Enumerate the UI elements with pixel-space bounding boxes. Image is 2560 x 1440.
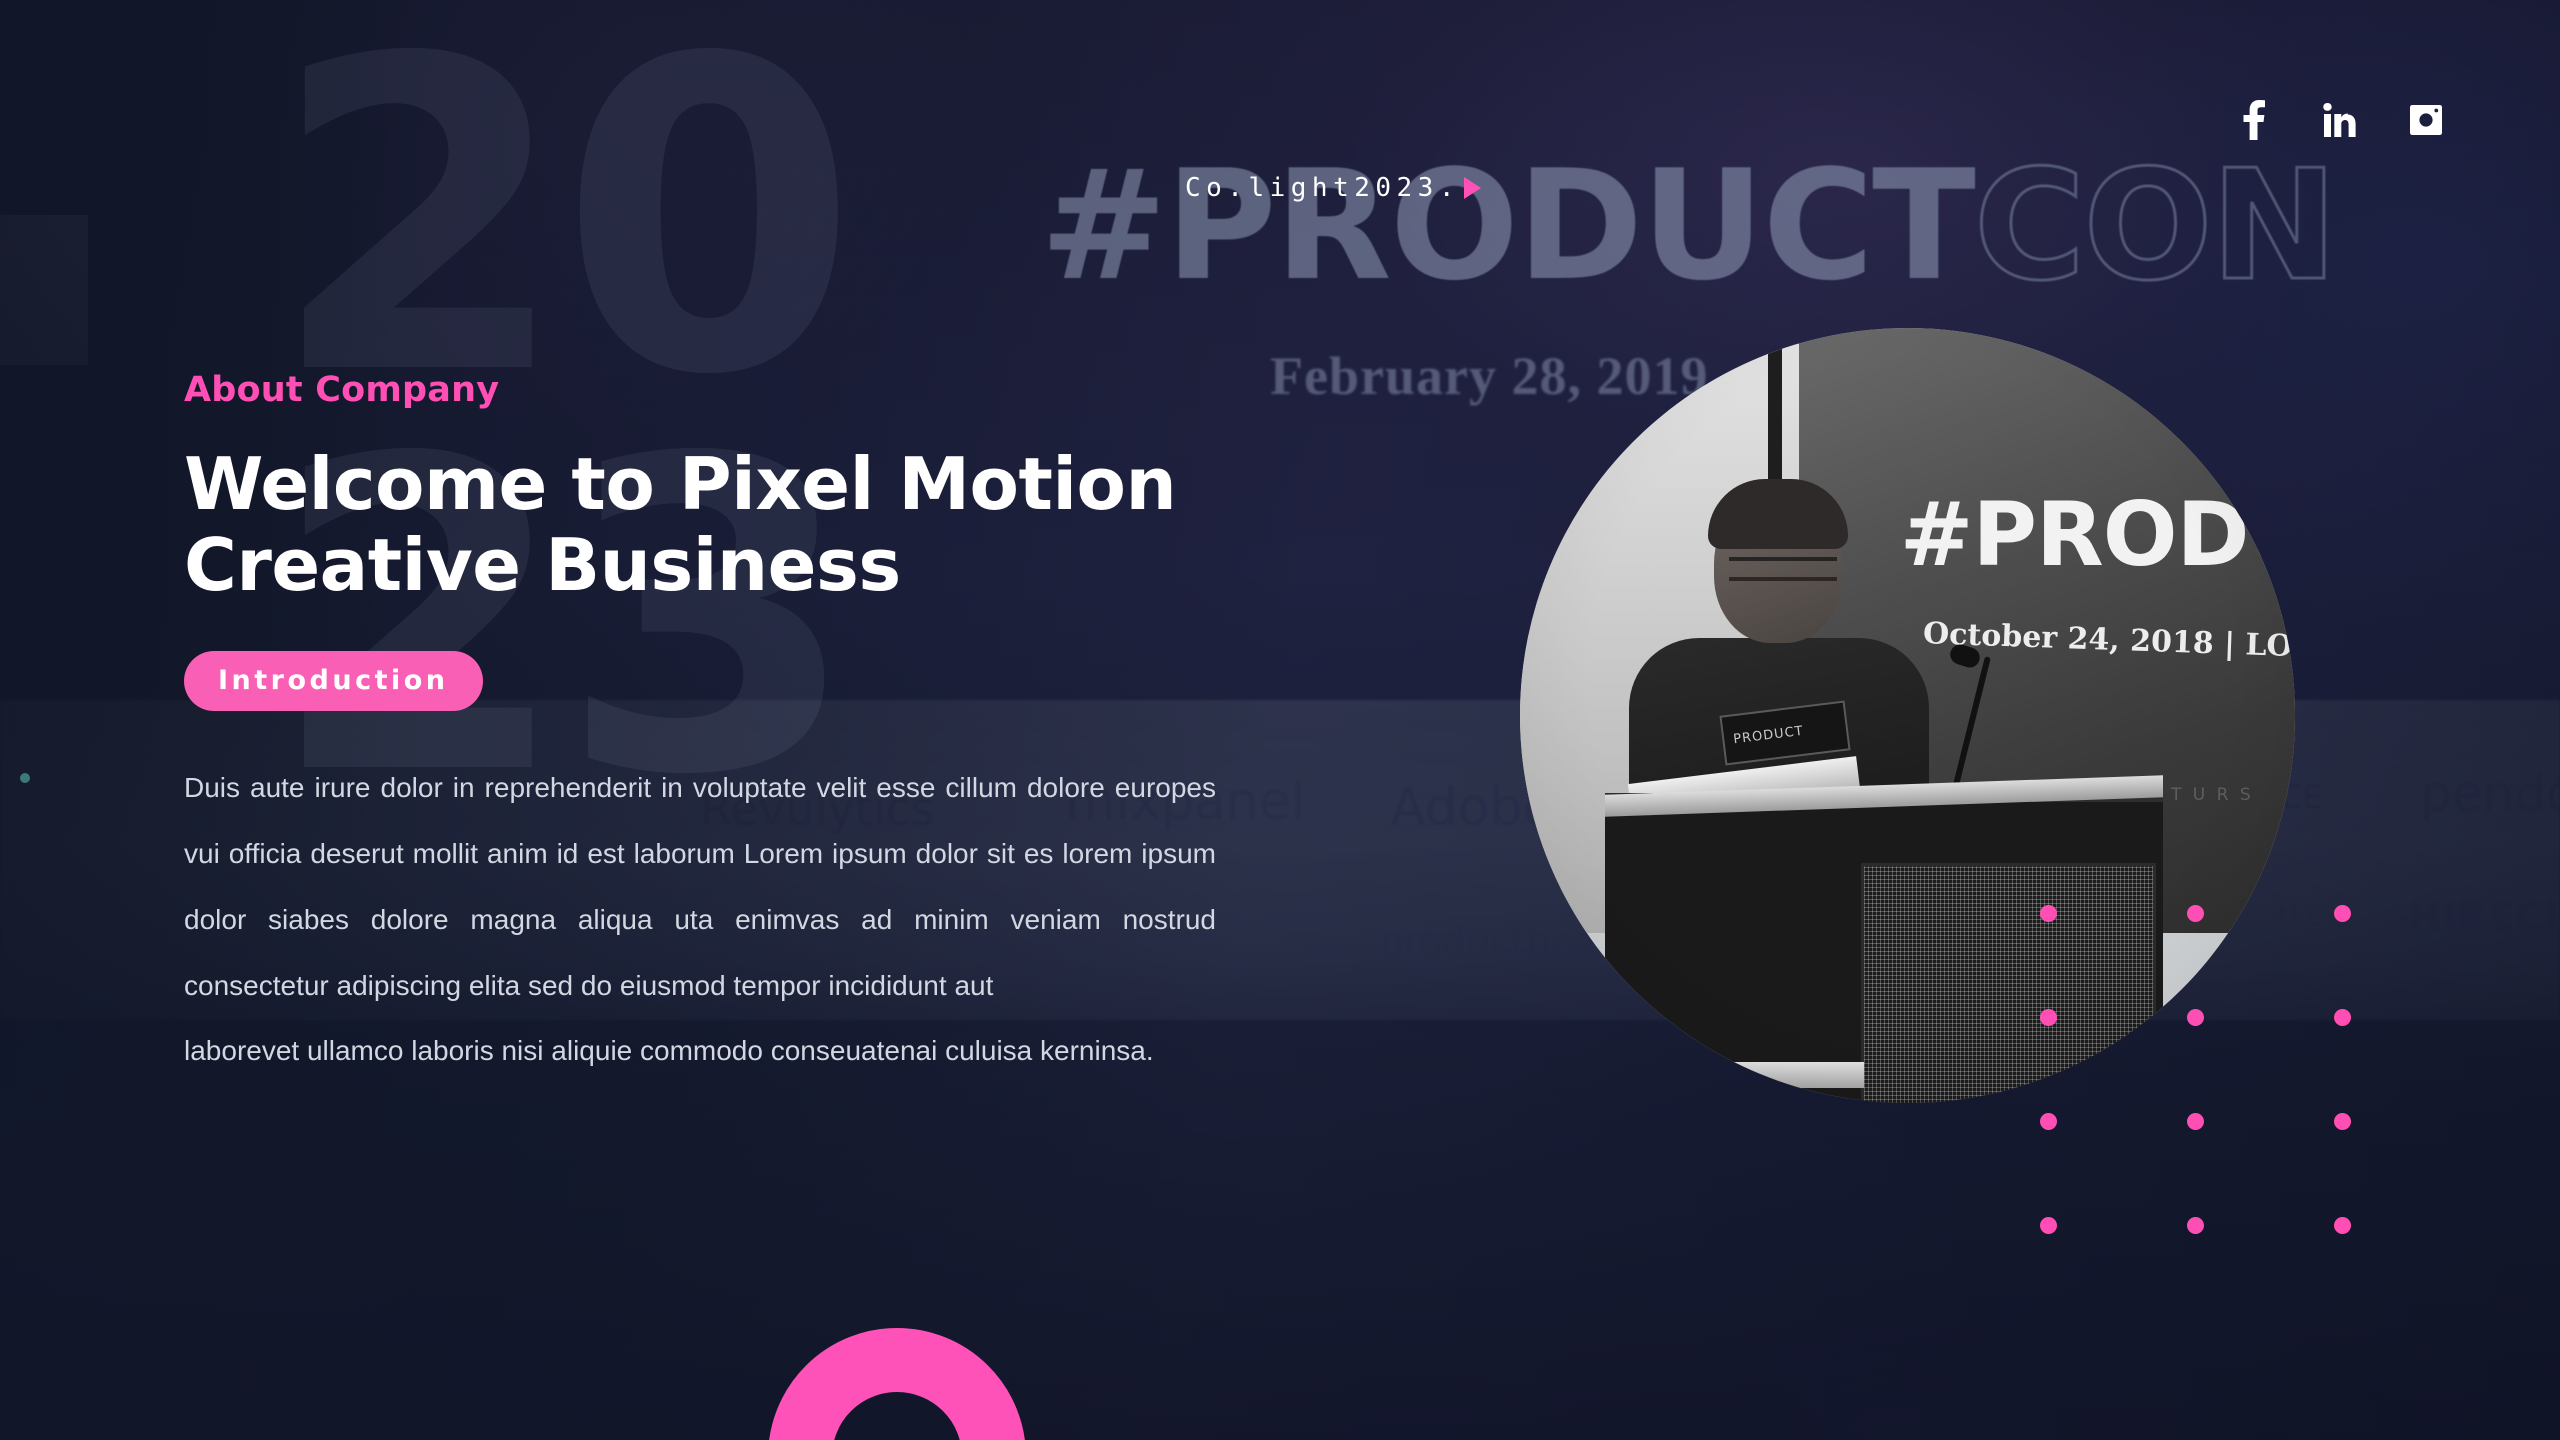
pink-dot	[2040, 1217, 2057, 1234]
section-eyebrow: About Company	[184, 370, 1244, 410]
backdrop-title-solid: #PRODUCT	[1040, 137, 1974, 314]
backdrop-title-outline: CON	[1974, 137, 2336, 314]
pink-dot	[2040, 1009, 2057, 1026]
social-links	[2234, 100, 2446, 140]
pink-dot	[2040, 1113, 2057, 1130]
linkedin-icon[interactable]	[2320, 100, 2360, 140]
pink-dot	[2334, 1217, 2351, 1234]
hero-description: Duis aute irure dolor in reprehenderit i…	[184, 755, 1216, 1084]
play-triangle-icon	[1464, 177, 1481, 199]
pink-dot	[2334, 905, 2351, 922]
hero-slide: RevulyticsmixpanelAdobeproductboardCEpen…	[0, 0, 2560, 1440]
brand-name: Co.light2023.	[1185, 173, 1460, 203]
brand-logo[interactable]: Co.light2023.	[1185, 173, 1481, 203]
hero-content: About Company Welcome to Pixel Motion Cr…	[184, 370, 1244, 1084]
pink-dot	[2187, 905, 2204, 922]
instagram-icon[interactable]	[2406, 100, 2446, 140]
pink-dot-grid	[2040, 905, 2351, 1234]
introduction-badge[interactable]: Introduction	[184, 651, 483, 711]
teal-accent-dot	[20, 773, 30, 783]
pink-dot	[2187, 1009, 2204, 1026]
pink-dot	[2187, 1113, 2204, 1130]
watermark-line-1: 20	[270, 20, 848, 420]
pink-dot	[2334, 1113, 2351, 1130]
pink-dot	[2187, 1217, 2204, 1234]
pink-dot	[2040, 905, 2057, 922]
pink-dot	[2334, 1009, 2351, 1026]
hero-description-main: Duis aute irure dolor in reprehenderit i…	[184, 772, 1216, 1000]
hero-description-lastline: laborevet ullamco laboris nisi aliquie c…	[184, 1018, 1216, 1084]
page-title: Welcome to Pixel Motion Creative Busines…	[184, 444, 1244, 605]
facebook-icon[interactable]	[2234, 100, 2274, 140]
